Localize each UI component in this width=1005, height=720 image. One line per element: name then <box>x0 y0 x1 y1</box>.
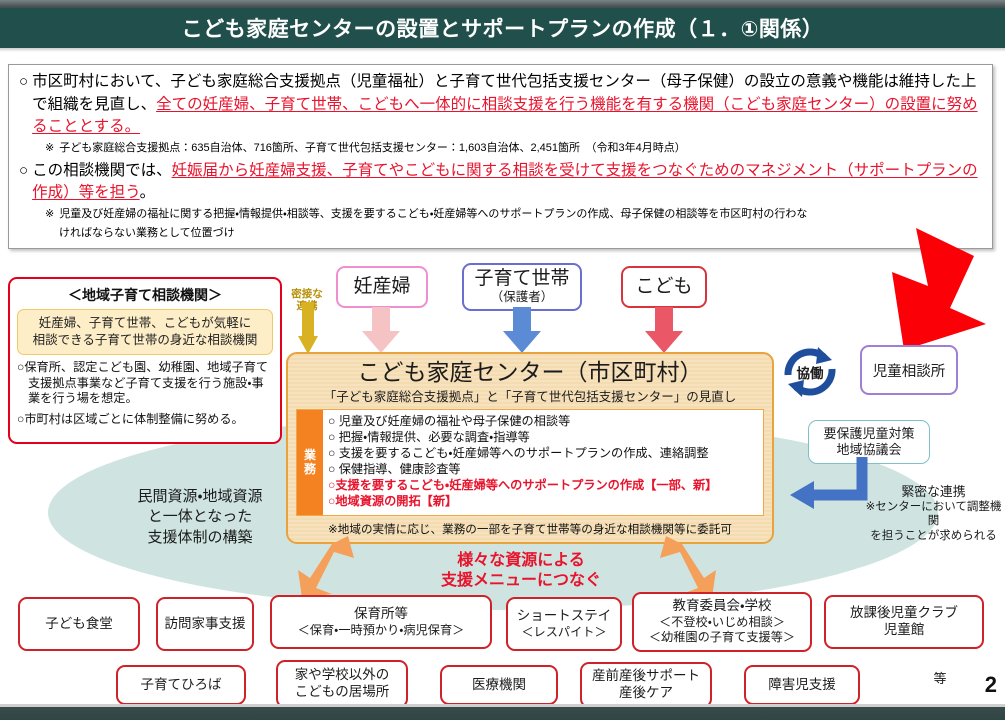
title-shadow <box>0 48 1005 52</box>
page-number: 2 <box>985 672 997 698</box>
slide-root: こども家庭センターの設置とサポートプランの作成（１．①関係） ○ 市区町村におい… <box>0 0 1005 720</box>
regional-bullet-1-l2: 支援拠点事業など子育て支援を行う施設・事 <box>17 376 273 392</box>
resource-box[interactable]: 放課後児童クラブ 児童館 <box>824 595 984 649</box>
persona-child-label: こども <box>635 277 692 298</box>
regional-consultation-box: ＜地域子育て相談機関＞ 妊産婦、子育て世帯、こどもが気軽に 相談できる子育て世帯… <box>8 277 282 444</box>
resource-label-1: 子ども食堂 <box>45 616 113 633</box>
collaboration-label: 協働 <box>778 362 842 382</box>
orange-arrow-left-icon <box>298 536 354 598</box>
child-guidance-center-label: 児童相談所 <box>873 360 946 381</box>
regional-bullet-1: ○保育所、認定こども園、幼稚園、地域子育て 支援拠点事業など子育て支援を行う施設… <box>17 360 273 408</box>
resource-box[interactable]: ショートステイ ＜レスパイト＞ <box>506 597 622 651</box>
support-menu-caption: 様々な資源による 支援メニューにつなぐ <box>390 551 652 591</box>
resource-box[interactable]: 家や学校以外の こどもの居場所 <box>276 660 408 708</box>
note-mark-icon-2: ※ <box>45 208 54 220</box>
duty-item: ○ 保健指導、健康診査等 <box>328 462 757 478</box>
private-resources-line1: 民間資源・地域資源 <box>92 487 308 507</box>
resource-label-1: 障害児支援 <box>768 677 836 694</box>
arrow-child-to-center-icon <box>645 307 683 353</box>
statement-1-note-text: 子ども家庭総合支援拠点：635自治体、716箇所、子育て世代包括支援センター：1… <box>59 142 686 154</box>
statement-1-highlight: 全ての妊産婦、子育て世帯、こどもへ一体的に相談支援を行う機能を有する機関（こども… <box>32 96 978 136</box>
duty-item: ○ 把握・情報提供、必要な調査・指導等 <box>328 430 757 446</box>
tight-cooperation-line3: を担うことが求められる <box>862 529 1005 543</box>
resource-label-2: こどもの居場所 <box>295 684 390 701</box>
statement-2-text: この相談機関では、妊娠届から妊産婦支援、子育てやこどもに関する相談を受けて支援を… <box>32 160 982 205</box>
orange-arrow-right-icon <box>660 536 716 598</box>
olive-down-arrow-icon <box>298 302 318 354</box>
regional-bullet-1-l3: 業を行う場を想定。 <box>17 391 273 407</box>
resource-box[interactable]: 医療機関 <box>440 665 558 705</box>
statement-2-plain-after: 。 <box>140 184 156 201</box>
regional-box-title: ＜地域子育て相談機関＞ <box>17 285 273 305</box>
resource-label-2: 産後ケア <box>619 685 673 702</box>
center-duties-row: 業 務 ○ 児童及び妊産婦の福祉や母子保健の相談等 ○ 把握・情報提供、必要な調… <box>296 409 764 515</box>
close-cooperation-l1: 密接な <box>291 288 323 300</box>
kodomo-katei-center-box: こども家庭センター（市区町村） 「子ども家庭総合支援拠点」と「子育て世代包括支援… <box>286 352 774 544</box>
child-guidance-center-box: 児童相談所 <box>860 345 958 395</box>
private-resources-line3: 支援体制の構築 <box>92 528 308 548</box>
slide-title-band: こども家庭センターの設置とサポートプランの作成（１．①関係） <box>0 8 1005 48</box>
resource-box[interactable]: 障害児支援 <box>744 665 860 705</box>
arrow-pregnant-to-center-icon <box>362 307 400 353</box>
big-red-arrow-icon <box>882 222 1005 354</box>
duty-item-new: ○支援を要するこども・妊産婦等へのサポートプランの作成【一部、新】 <box>328 478 757 494</box>
resource-box[interactable]: 子ども食堂 <box>18 597 140 651</box>
tight-cooperation-note: 緊密な連携 ※センターにおいて調整機関 を担うことが求められる <box>862 484 1005 543</box>
statement-item-2: ○ この相談機関では、妊娠届から妊産婦支援、子育てやこどもに関する相談を受けて支… <box>19 160 982 205</box>
regional-bullet-1-l1: ○保育所、認定こども園、幼稚園、地域子育て <box>17 360 268 374</box>
duty-item-new: ○地域資源の開拓【新】 <box>328 494 757 510</box>
regional-inner-line1: 妊産婦、子育て世帯、こどもが気軽に <box>22 315 268 332</box>
tight-cooperation-line1: 緊密な連携 <box>862 484 1005 500</box>
note-mark-icon: ※ <box>45 142 54 154</box>
statement-2-plain: この相談機関では、 <box>32 162 172 179</box>
resource-label-1: 教育委員会・学校 <box>672 598 771 615</box>
local-council-line1: 要保護児童対策 <box>823 426 914 442</box>
close-cooperation-group: 密接な 連携 <box>278 288 336 354</box>
duties-tab-char-1: 業 <box>304 449 316 463</box>
resource-label-3: ＜幼稚園の子育て支援等＞ <box>649 630 795 645</box>
duty-item: ○ 児童及び妊産婦の福祉や母子保健の相談等 <box>328 414 757 430</box>
private-resources-caption: 民間資源・地域資源 と一体となった 支援体制の構築 <box>92 487 308 548</box>
statement-2-note-line1: ※児童及び妊産婦の福祉に関する把握・情報提供・相談等、支援を要するこども・妊産婦… <box>45 207 982 223</box>
resource-label-2: ＜保育・一時預かり・病児保育＞ <box>298 623 465 638</box>
etcetera-label: 等 <box>915 668 965 687</box>
resource-label-1: 放課後児童クラブ <box>850 605 958 622</box>
duty-item: ○ 支援を要するこども・妊産婦等へのサポートプランの作成、連絡調整 <box>328 446 757 462</box>
tight-cooperation-line2: ※センターにおいて調整機関 <box>862 500 1005 529</box>
resource-label-2: 児童館 <box>884 622 925 639</box>
resource-box[interactable]: 教育委員会・学校 ＜不登校・いじめ相談＞ ＜幼稚園の子育て支援等＞ <box>632 592 812 652</box>
statement-1-text: 市区町村において、子ども家庭総合支援拠点（児童福祉）と子育て世代包括支援センター… <box>32 71 982 139</box>
persona-child: こども <box>621 266 707 308</box>
duties-tab-char-2: 務 <box>304 463 316 477</box>
persona-pregnant-women: 妊産婦 <box>336 266 428 308</box>
resource-label-2: ＜レスパイト＞ <box>521 625 606 640</box>
regional-bullet-2: ○市町村は区域ごとに体制整備に努める。 <box>17 412 273 428</box>
resource-label-1: 保育所等 <box>354 606 408 623</box>
resource-label-2: ＜不登校・いじめ相談＞ <box>659 615 785 630</box>
statement-2-note-line2: ければならない業務として位置づけ <box>59 226 982 242</box>
center-title: こども家庭センター（市区町村） <box>296 359 764 385</box>
bullet-circle-icon-2: ○ <box>19 160 28 182</box>
statement-1-note: ※子ども家庭総合支援拠点：635自治体、716箇所、子育て世代包括支援センター：… <box>45 141 982 157</box>
support-menu-line1: 様々な資源による <box>390 551 652 571</box>
resource-label-1: 家や学校以外の <box>295 667 390 684</box>
private-resources-line2: と一体となった <box>92 507 308 527</box>
resource-label-1: 子育てひろば <box>141 677 222 694</box>
statement-item-1: ○ 市区町村において、子ども家庭総合支援拠点（児童福祉）と子育て世代包括支援セン… <box>19 71 982 139</box>
statement-2-note-text-1: 児童及び妊産婦の福祉に関する把握・情報提供・相談等、支援を要するこども・妊産婦等… <box>59 208 807 220</box>
resource-box[interactable]: 保育所等 ＜保育・一時預かり・病児保育＞ <box>270 595 492 649</box>
persona-childrearing-household: 子育て世帯 （保護者） <box>462 263 582 311</box>
resource-label-1: 医療機関 <box>472 677 526 694</box>
resource-box[interactable]: 産前産後サポート 産後ケア <box>580 662 712 708</box>
center-subtitle: 「子ども家庭総合支援拠点」と「子育て世代包括支援センター」の見直し <box>296 386 764 405</box>
resource-label-1: ショートステイ <box>517 608 612 625</box>
bottom-bar <box>0 704 1005 720</box>
bullet-circle-icon: ○ <box>19 71 28 93</box>
persona-household-label: 子育て世帯 <box>474 269 569 290</box>
resource-box[interactable]: 子育てひろば <box>116 665 246 705</box>
resource-label-1: 産前産後サポート <box>592 668 700 685</box>
persona-household-sublabel: （保護者） <box>491 291 554 305</box>
statement-box: ○ 市区町村において、子ども家庭総合支援拠点（児童福祉）と子育て世代包括支援セン… <box>8 64 993 249</box>
center-footnote: ※地域の実情に応じ、業務の一部を子育て世帯等の身近な相談機関等に委託可 <box>296 521 764 537</box>
support-menu-line2: 支援メニューにつなぐ <box>390 571 652 591</box>
duties-list: ○ 児童及び妊産婦の福祉や母子保健の相談等 ○ 把握・情報提供、必要な調査・指導… <box>323 410 763 514</box>
persona-pregnant-label: 妊産婦 <box>353 277 410 298</box>
regional-inner-line2: 相談できる子育て世帯の身近な相談機関 <box>22 332 268 349</box>
arrow-household-to-center-icon <box>503 307 541 353</box>
regional-box-inner: 妊産婦、子育て世帯、こどもが気軽に 相談できる子育て世帯の身近な相談機関 <box>17 309 273 355</box>
resource-box[interactable]: 訪問家事支援 <box>156 597 254 651</box>
collaboration-group: 協働 <box>778 342 842 402</box>
statement-2-note-text-2: ければならない業務として位置づけ <box>59 227 235 239</box>
resource-label-1: 訪問家事支援 <box>165 616 246 633</box>
statement-2-highlight: 妊娠届から妊産婦支援、子育てやこどもに関する相談を受けて支援をつなぐためのマネジ… <box>32 162 978 202</box>
page-title: こども家庭センターの設置とサポートプランの作成（１．①関係） <box>182 13 824 43</box>
